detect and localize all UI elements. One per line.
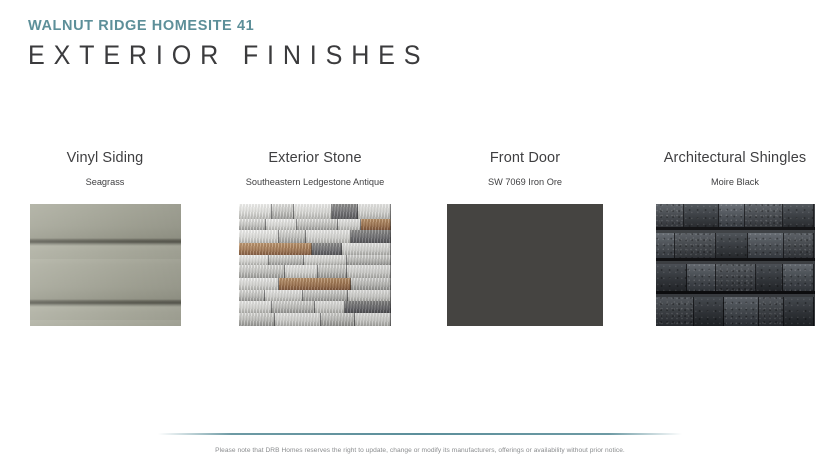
material-category-label: Vinyl Siding — [67, 150, 144, 167]
material-column-exterior-stone: Exterior Stone Southeastern Ledgestone A… — [210, 150, 420, 326]
swatch-front-door — [447, 204, 603, 326]
stone-course — [239, 243, 391, 255]
material-column-vinyl-siding: Vinyl Siding Seagrass — [0, 150, 210, 326]
material-selection-label: Seagrass — [86, 177, 125, 188]
shingle-course — [656, 204, 815, 230]
disclaimer-text: Please note that DRB Homes reserves the … — [0, 447, 840, 456]
material-category-label: Exterior Stone — [268, 150, 361, 167]
stone-course — [239, 204, 391, 219]
swatch-vinyl-siding — [30, 204, 181, 326]
shingle-course — [656, 264, 815, 294]
page-header: WALNUT RIDGE HOMESITE 41 EXTERIOR FINISH… — [28, 18, 460, 73]
stone-course — [239, 255, 391, 265]
material-selection-label: Southeastern Ledgestone Antique — [246, 177, 384, 188]
material-category-label: Architectural Shingles — [664, 150, 806, 167]
footer-divider — [158, 433, 682, 435]
stone-course — [239, 230, 391, 243]
community-homesite-label: WALNUT RIDGE HOMESITE 41 — [28, 18, 460, 35]
stone-course — [239, 301, 391, 313]
stone-course — [239, 290, 391, 301]
material-selection-label: Moire Black — [711, 177, 759, 188]
stone-course — [239, 278, 391, 290]
page-title: EXTERIOR FINISHES — [28, 39, 429, 73]
stone-course — [239, 219, 391, 230]
material-column-front-door: Front Door SW 7069 Iron Ore — [420, 150, 630, 326]
stone-course — [239, 265, 391, 278]
shingle-course — [656, 297, 815, 326]
material-selection-label: SW 7069 Iron Ore — [488, 177, 562, 188]
material-category-label: Front Door — [490, 150, 560, 167]
material-column-architectural-shingles: Architectural Shingles Moire Black — [630, 150, 840, 326]
swatch-architectural-shingles — [656, 204, 815, 326]
swatch-exterior-stone — [239, 204, 391, 326]
shingle-course — [656, 233, 815, 261]
stone-course — [239, 313, 391, 326]
materials-grid: Vinyl Siding Seagrass Exterior Stone Sou… — [0, 150, 840, 326]
